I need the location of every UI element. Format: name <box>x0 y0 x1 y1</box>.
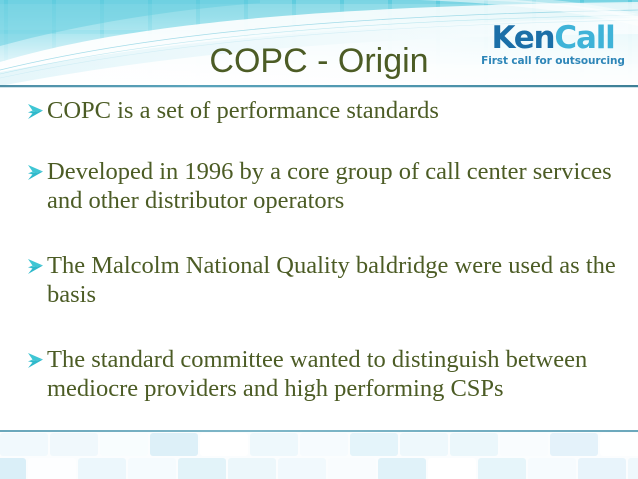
mosaic-tile <box>0 458 26 479</box>
arrow-bullet-icon <box>26 254 46 280</box>
mosaic-tile <box>50 433 98 456</box>
mosaic-tile <box>150 433 198 456</box>
bullet-item: The standard committee wanted to disting… <box>26 345 626 403</box>
mosaic-tile <box>178 458 226 479</box>
mosaic-tile <box>378 458 426 479</box>
mosaic-tile <box>250 433 298 456</box>
mosaic-tile <box>200 433 248 456</box>
mosaic-tile <box>128 458 176 479</box>
mosaic-tile <box>278 458 326 479</box>
bullet-item: The Malcolm National Quality baldridge w… <box>26 251 626 309</box>
kencall-logo: KenCall First call for outsourcing <box>476 22 630 74</box>
mosaic-tile <box>100 433 148 456</box>
mosaic-tile <box>328 458 376 479</box>
bullet-text: The Malcolm National Quality baldridge w… <box>46 251 626 309</box>
mosaic-tile <box>0 433 48 456</box>
mosaic-tile <box>478 458 526 479</box>
mosaic-tile <box>628 458 638 479</box>
footer-divider-line <box>0 430 638 432</box>
mosaic-tile <box>300 433 348 456</box>
logo-word-ken: Ken <box>491 20 554 56</box>
logo-wordmark: KenCall <box>476 22 630 54</box>
arrow-bullet-icon <box>26 99 46 125</box>
bullet-text: COPC is a set of performance standards <box>46 96 626 125</box>
mosaic-tile <box>500 433 548 456</box>
bullet-item: Developed in 1996 by a core group of cal… <box>26 157 626 215</box>
mosaic-tile <box>528 458 576 479</box>
slide-body: COPC is a set of performance standards D… <box>0 90 638 430</box>
mosaic-tile <box>450 433 498 456</box>
mosaic-tile <box>578 458 626 479</box>
mosaic-tile <box>600 433 638 456</box>
arrow-bullet-icon <box>26 160 46 186</box>
footer-mosaic-band <box>0 432 638 479</box>
mosaic-tile <box>78 458 126 479</box>
mosaic-tile <box>550 433 598 456</box>
mosaic-tile <box>228 458 276 479</box>
bullet-item: COPC is a set of performance standards <box>26 96 626 125</box>
logo-tagline: First call for outsourcing <box>476 55 630 68</box>
bullet-text: Developed in 1996 by a core group of cal… <box>46 157 626 215</box>
logo-word-call: Call <box>554 20 614 56</box>
bullet-text: The standard committee wanted to disting… <box>46 345 626 403</box>
header-divider-shadow <box>0 87 638 88</box>
slide-canvas: COPC - Origin KenCall First call for out… <box>0 0 638 479</box>
mosaic-tile <box>400 433 448 456</box>
mosaic-tile <box>428 458 476 479</box>
arrow-bullet-icon <box>26 348 46 374</box>
mosaic-tile <box>350 433 398 456</box>
mosaic-tile <box>28 458 76 479</box>
